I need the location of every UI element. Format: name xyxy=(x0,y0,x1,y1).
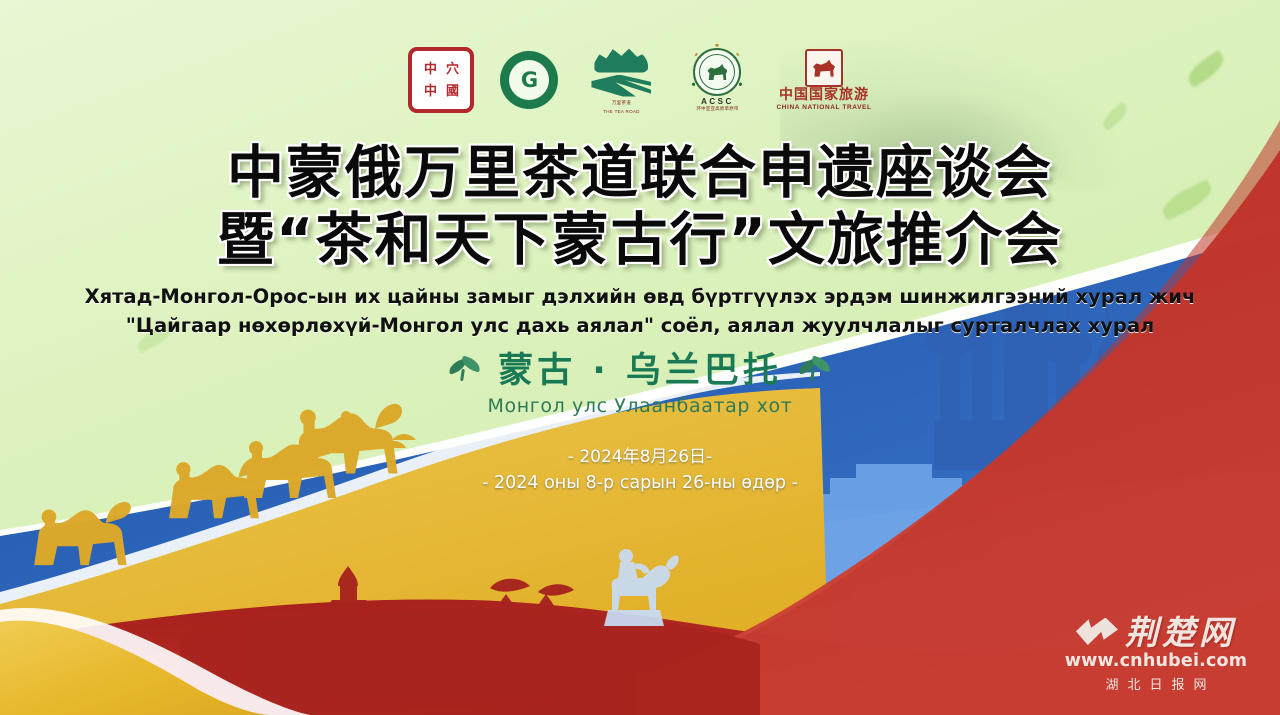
cnt-label-cn: 中国国家旅游 xyxy=(779,88,869,103)
poster-headline: 中蒙俄万里茶道联合申遗座谈会 暨“茶和天下蒙古行”文旅推介会 xyxy=(0,140,1280,275)
headline-line-2: 暨“茶和天下蒙古行”文旅推介会 xyxy=(0,207,1280,274)
poster-location: 蒙古 · 乌兰巴托 Монгол улс Улаанбаатар хот xyxy=(0,352,1280,417)
watermark-subtitle-cn: 湖北日报网 xyxy=(1048,674,1264,693)
watermark-brand-row: 荆楚网 xyxy=(1048,616,1264,649)
subtitle-line-2: "Цайгаар нөхөрлөхүй-Монгол улс дахь аяла… xyxy=(0,311,1280,340)
tea-road-label-cn: 万里茶道 xyxy=(612,100,631,106)
cnt-label-en: CHINA NATIONAL TRAVEL xyxy=(776,104,871,111)
sponsor-logo-row: 中 穴 中 國 G 万里茶道 THE TEA ROAD ACSC xyxy=(0,44,1280,116)
acsc-emblem-icon xyxy=(693,48,741,96)
poster-canvas: 中 穴 中 國 G 万里茶道 THE TEA ROAD ACSC xyxy=(0,0,1280,715)
tea-sprout-icon xyxy=(448,357,482,385)
site-watermark: 荆楚网 www.cnhubei.com 湖北日报网 xyxy=(1048,616,1264,693)
logo-china-national-travel: 中国国家旅游 CHINA NATIONAL TRAVEL xyxy=(776,49,871,111)
date-line-mn: - 2024 оны 8-р сарын 26-ны өдөр - xyxy=(0,470,1280,497)
poster-dates: - 2024年8月26日- - 2024 оны 8-р сарын 26-ны… xyxy=(0,444,1280,497)
location-label-cn: 蒙古 · 乌兰巴托 xyxy=(498,352,782,391)
date-line-cn: - 2024年8月26日- xyxy=(0,444,1280,470)
cnt-seal-icon xyxy=(805,49,843,87)
seal-glyph: 中 xyxy=(424,63,437,76)
seal-glyph: 國 xyxy=(446,85,459,98)
horse-icon xyxy=(813,60,835,77)
seal-glyph: 穴 xyxy=(446,63,459,76)
headline-line-1: 中蒙俄万里茶道联合申遗座谈会 xyxy=(0,140,1280,207)
subtitle-line-1: Хятад-Монгол-Орос-ын их цайны замыг дэлх… xyxy=(0,282,1280,311)
acsc-label-cn: 环中亚亚高原草原带 xyxy=(696,106,738,112)
badge-mark: G xyxy=(521,70,538,91)
seal-icon: 中 穴 中 國 xyxy=(408,47,474,113)
logo-tea-road: 万里茶道 THE TEA ROAD xyxy=(584,47,658,114)
tea-sprout-icon xyxy=(798,357,832,385)
poster-subtitle: Хятад-Монгол-Орос-ын их цайны замыг дэлх… xyxy=(0,282,1280,341)
logo-china-culture-seal: 中 穴 中 國 xyxy=(408,47,474,113)
cnhubei-logo-icon xyxy=(1076,618,1118,648)
logo-tourism-circle-badge: G xyxy=(500,51,558,109)
seal-glyph: 中 xyxy=(424,85,437,98)
tea-road-label-en: THE TEA ROAD xyxy=(603,109,640,114)
tea-stem-icon xyxy=(591,75,651,97)
location-row: 蒙古 · 乌兰巴托 xyxy=(0,352,1280,391)
circle-badge-icon: G xyxy=(500,51,558,109)
logo-acsc: ACSC 环中亚亚高原草原带 xyxy=(684,48,750,112)
location-label-mn: Монгол улс Улаанбаатар хот xyxy=(0,395,1280,417)
watermark-brand-cn: 荆楚网 xyxy=(1125,616,1236,649)
tea-leaf-icon xyxy=(594,47,648,73)
watermark-url: www.cnhubei.com xyxy=(1048,651,1264,671)
